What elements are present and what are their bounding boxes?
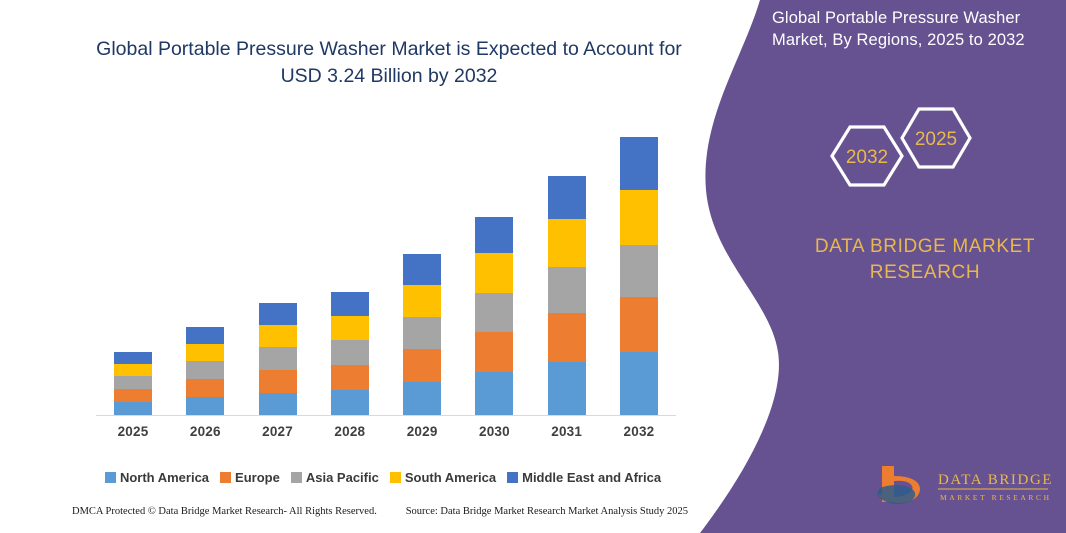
legend-label: North America (120, 470, 209, 485)
bar-segment (475, 253, 513, 293)
chart-legend: North AmericaEuropeAsia PacificSouth Ame… (96, 470, 676, 485)
bar-segment (259, 325, 297, 347)
bar-segment (548, 219, 586, 267)
bar-segment (331, 292, 369, 316)
legend-swatch-icon (291, 472, 302, 483)
bar-segment (548, 313, 586, 362)
bar-segment (331, 340, 369, 365)
bar-stack (114, 352, 152, 416)
bar-segment (114, 402, 152, 416)
bar-segment (620, 245, 658, 297)
bar-column-2030 (463, 217, 525, 416)
bar-stack (620, 137, 658, 416)
bar-segment (259, 393, 297, 416)
bar-column-2028 (319, 292, 381, 416)
bar-stack (403, 254, 441, 416)
bar-segment (186, 344, 224, 361)
x-tick-2031: 2031 (536, 424, 598, 439)
hexagon-2025-shape: 2025 (902, 109, 970, 167)
logo-secondary-text: MARKET RESEARCH (940, 493, 1052, 502)
infographic-canvas: Global Portable Pressure Washer Market i… (0, 0, 1066, 533)
bar-segment (403, 382, 441, 416)
legend-item[interactable]: South America (390, 470, 496, 485)
legend-label: Asia Pacific (306, 470, 379, 485)
bar-segment (620, 297, 658, 352)
x-tick-2029: 2029 (391, 424, 453, 439)
legend-swatch-icon (105, 472, 116, 483)
x-tick-2027: 2027 (247, 424, 309, 439)
footer-source: Source: Data Bridge Market Research Mark… (406, 506, 688, 517)
legend-item[interactable]: Middle East and Africa (507, 470, 661, 485)
bar-segment (548, 267, 586, 313)
bar-stack (186, 327, 224, 416)
bar-column-2032 (608, 137, 670, 416)
bar-segment (114, 389, 152, 402)
bar-column-2031 (536, 176, 598, 416)
bar-segment (403, 285, 441, 317)
x-tick-2025: 2025 (102, 424, 164, 439)
bar-segment (403, 317, 441, 349)
chart-title: Global Portable Pressure Washer Market i… (86, 36, 692, 90)
legend-item[interactable]: Europe (220, 470, 280, 485)
bar-segment (548, 362, 586, 416)
legend-label: South America (405, 470, 496, 485)
bar-column-2026 (174, 327, 236, 416)
data-bridge-b-mark (877, 466, 920, 504)
bar-segment (259, 347, 297, 370)
hexagon-badges: 2032 2025 (822, 96, 992, 206)
bar-segment (186, 397, 224, 416)
bar-chart-plot-area (96, 120, 676, 416)
bar-segment (620, 137, 658, 190)
bar-stack (548, 176, 586, 416)
x-axis-tick-labels: 20252026202720282029203020312032 (96, 424, 676, 439)
x-tick-2032: 2032 (608, 424, 670, 439)
bar-segment (331, 390, 369, 416)
bar-segment (620, 352, 658, 416)
x-tick-2026: 2026 (174, 424, 236, 439)
footer: DMCA Protected © Data Bridge Market Rese… (72, 506, 688, 517)
legend-label: Middle East and Africa (522, 470, 661, 485)
bar-stack (331, 292, 369, 416)
bar-segment (475, 332, 513, 372)
legend-swatch-icon (390, 472, 401, 483)
x-axis-line (96, 415, 676, 416)
bar-segment (186, 327, 224, 344)
bar-column-2025 (102, 352, 164, 416)
bar-segment (475, 372, 513, 416)
x-tick-2028: 2028 (319, 424, 381, 439)
brand-logo: DATA BRIDGE MARKET RESEARCH (872, 462, 1052, 508)
legend-item[interactable]: Asia Pacific (291, 470, 379, 485)
bar-segment (548, 176, 586, 219)
bar-segment (331, 365, 369, 390)
hexagon-2032-label: 2032 (846, 147, 888, 168)
side-panel-title: Global Portable Pressure Washer Market, … (772, 8, 1054, 52)
legend-swatch-icon (507, 472, 518, 483)
bar-stack (259, 303, 297, 416)
bar-segment (114, 364, 152, 376)
brand-wordmark: DATA BRIDGE MARKET RESEARCH (790, 234, 1060, 285)
footer-copyright: DMCA Protected © Data Bridge Market Rese… (72, 506, 377, 517)
bar-segment (259, 370, 297, 393)
bar-segment (475, 217, 513, 253)
bar-stack (475, 217, 513, 416)
bar-segment (114, 376, 152, 389)
bar-column-2029 (391, 254, 453, 416)
bar-segment (620, 190, 658, 245)
bar-column-2027 (247, 303, 309, 416)
bar-segment (114, 352, 152, 364)
hexagon-2025-label: 2025 (915, 129, 957, 150)
bar-segment (259, 303, 297, 325)
bar-segment (186, 361, 224, 379)
bar-segment (186, 379, 224, 397)
bar-series-container (96, 120, 676, 416)
bar-segment (331, 316, 369, 340)
hexagon-2032-shape: 2032 (832, 127, 902, 185)
x-tick-2030: 2030 (463, 424, 525, 439)
bar-segment (475, 293, 513, 332)
legend-label: Europe (235, 470, 280, 485)
bar-segment (403, 349, 441, 382)
logo-primary-text: DATA BRIDGE (938, 472, 1052, 488)
legend-item[interactable]: North America (105, 470, 209, 485)
legend-swatch-icon (220, 472, 231, 483)
bar-segment (403, 254, 441, 285)
